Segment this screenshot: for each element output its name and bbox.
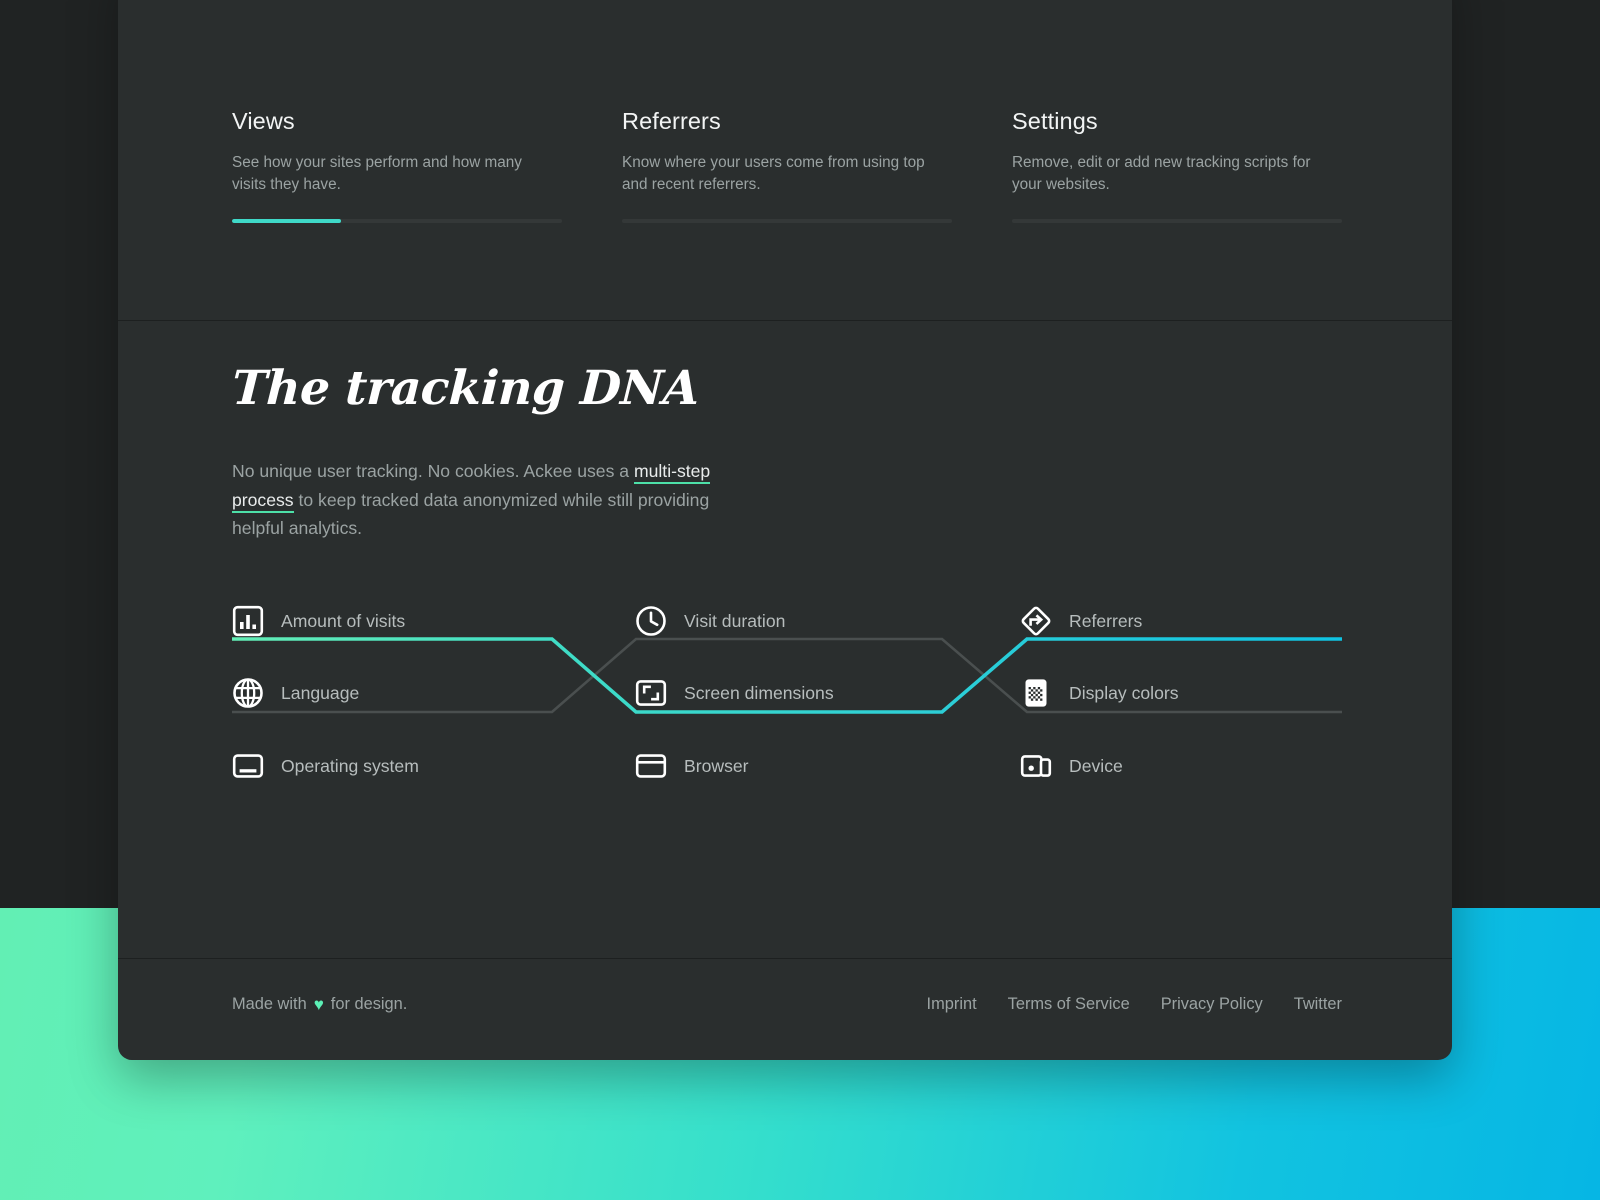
dna-item-amount-of-visits[interactable]: Amount of visits	[232, 599, 635, 643]
feature-card-settings[interactable]: Settings Remove, edit or add new trackin…	[1012, 108, 1342, 223]
dna-item-label: Referrers	[1069, 611, 1142, 632]
footer-link-privacy-policy[interactable]: Privacy Policy	[1161, 995, 1263, 1014]
dna-description-before: No unique user tracking. No cookies. Ack…	[232, 461, 634, 481]
footer-link-imprint[interactable]: Imprint	[927, 995, 977, 1014]
page-title: The tracking DNA	[231, 361, 701, 416]
dna-item-visit-duration[interactable]: Visit duration	[635, 599, 1020, 643]
dna-item-language[interactable]: Language	[232, 671, 635, 715]
dna-item-label: Visit duration	[684, 611, 785, 632]
feature-title: Views	[232, 108, 562, 135]
dna-item-label: Amount of visits	[281, 611, 405, 632]
dna-item-display-colors[interactable]: Display colors	[1020, 671, 1342, 715]
operating-system-icon	[232, 750, 264, 782]
feature-description: Know where your users come from using to…	[622, 152, 947, 196]
footer-credit-prefix: Made with	[232, 995, 307, 1014]
dna-item-device[interactable]: Device	[1020, 744, 1342, 788]
footer-credit: Made with ♥ for design.	[232, 995, 407, 1014]
footer-link-terms-of-service[interactable]: Terms of Service	[1008, 995, 1130, 1014]
tracking-dna-section: The tracking DNA No unique user tracking…	[118, 321, 1452, 958]
globe-icon	[232, 677, 264, 709]
feature-description: Remove, edit or add new tracking scripts…	[1012, 152, 1337, 196]
browser-window-icon	[635, 750, 667, 782]
features-section: Views See how your sites perform and how…	[118, 0, 1452, 320]
dna-item-referrers[interactable]: Referrers	[1020, 599, 1342, 643]
dna-description: No unique user tracking. No cookies. Ack…	[232, 457, 752, 543]
feature-progress-bar	[1012, 219, 1342, 223]
dna-item-label: Screen dimensions	[684, 683, 834, 704]
dna-item-label: Browser	[684, 756, 749, 777]
feature-progress-fill	[232, 219, 341, 223]
display-colors-icon	[1020, 677, 1052, 709]
feature-card-referrers[interactable]: Referrers Know where your users come fro…	[622, 108, 952, 223]
dna-item-label: Display colors	[1069, 683, 1179, 704]
feature-title: Referrers	[622, 108, 952, 135]
main-card: Views See how your sites perform and how…	[118, 0, 1452, 1060]
dna-grid: Amount of visits Visit duration	[232, 599, 1342, 799]
bar-chart-icon	[232, 605, 264, 637]
footer-link-twitter[interactable]: Twitter	[1294, 995, 1342, 1014]
dna-item-browser[interactable]: Browser	[635, 744, 1020, 788]
feature-title: Settings	[1012, 108, 1342, 135]
feature-progress-bar	[622, 219, 952, 223]
dna-row: Amount of visits Visit duration	[232, 599, 1342, 643]
feature-card-views[interactable]: Views See how your sites perform and how…	[232, 108, 562, 223]
footer-credit-suffix: for design.	[331, 995, 408, 1014]
heart-icon: ♥	[314, 996, 324, 1013]
device-icon	[1020, 750, 1052, 782]
dna-rows: Amount of visits Visit duration	[232, 599, 1342, 799]
dna-description-after: to keep tracked data anonymized while st…	[232, 490, 709, 539]
clock-icon	[635, 605, 667, 637]
referrer-diamond-arrow-icon	[1020, 605, 1052, 637]
dna-item-label: Device	[1069, 756, 1123, 777]
feature-progress-bar	[232, 219, 562, 223]
footer: Made with ♥ for design. Imprint Terms of…	[118, 959, 1452, 1060]
feature-description: See how your sites perform and how many …	[232, 152, 557, 196]
dna-item-label: Operating system	[281, 756, 419, 777]
dna-item-screen-dimensions[interactable]: Screen dimensions	[635, 671, 1020, 715]
dna-item-operating-system[interactable]: Operating system	[232, 744, 635, 788]
dna-row: Operating system Browser	[232, 744, 1342, 788]
dna-item-label: Language	[281, 683, 359, 704]
dna-row: Language Screen dimensions	[232, 671, 1342, 715]
footer-links: Imprint Terms of Service Privacy Policy …	[927, 995, 1342, 1014]
screen-dimensions-icon	[635, 677, 667, 709]
